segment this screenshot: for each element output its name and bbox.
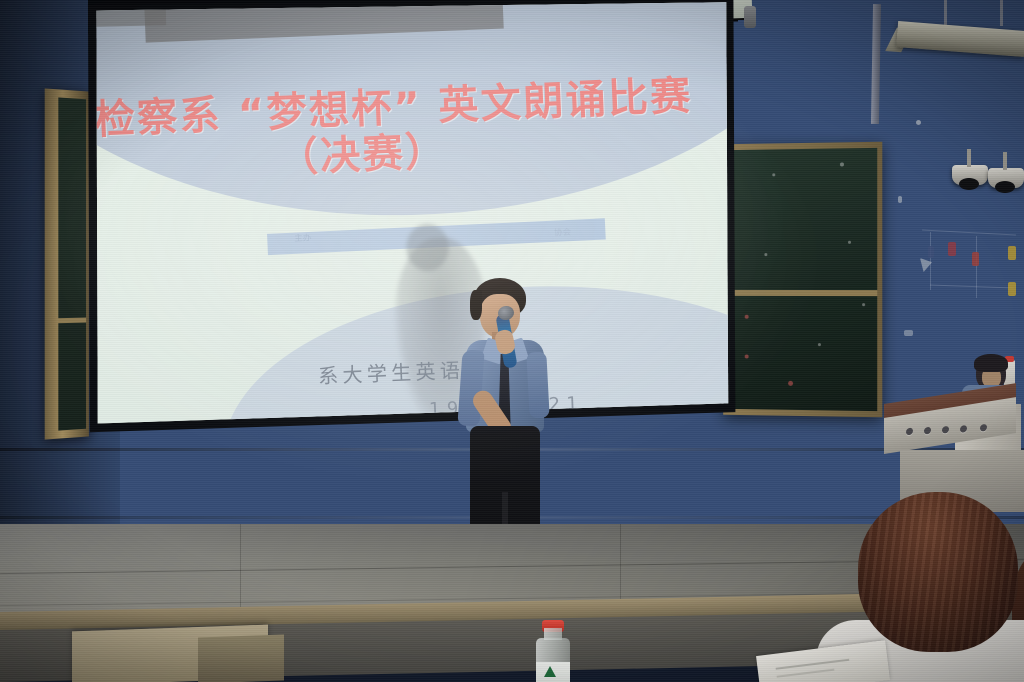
chalkboard-left-edge [45,88,89,439]
chalkboard [723,142,882,418]
projection-screen: 检察系 “梦想杯” 英文朗诵比赛 （决赛） 主办 协会 系大学生英语协会 19.… [86,0,736,434]
speaker-hair-side [470,290,482,320]
security-camera-icon-1 [952,165,988,185]
projected-speaker-shadow-head [406,223,450,270]
podium-knob-4[interactable] [960,425,967,433]
slide-subtitle-left: 主办 [294,233,311,244]
decor-card-1 [928,246,934,258]
podium-knob-3[interactable] [942,426,949,434]
decor-card-5 [1008,282,1016,296]
screen-surface: 检察系 “梦想杯” 英文朗诵比赛 （决赛） 主办 协会 系大学生英语协会 19.… [86,0,736,434]
light-support-rod-2 [1000,0,1003,26]
podium-knob-1[interactable] [906,427,913,435]
audience-hair [858,492,1018,652]
presentation-slide: 检察系 “梦想杯” 英文朗诵比赛 （决赛） 主办 协会 系大学生英语协会 19.… [86,0,736,434]
wall-speck-2 [898,196,902,203]
stage-step-side [198,634,284,682]
podium-knob-5[interactable] [980,424,987,432]
operator-hair [974,354,1008,372]
decor-string-3 [930,232,931,290]
speaker-arm-right [526,352,549,419]
decor-card-3 [972,252,979,266]
bottle-logo-icon [544,666,556,677]
slide-subtitle-right: 协会 [553,226,570,238]
decor-card-4 [1008,246,1016,260]
decor-card-2 [948,242,956,256]
wall-speck-3 [904,330,913,336]
decor-string-4 [976,236,977,298]
security-camera-icon-2 [988,168,1024,188]
podium-knob-2[interactable] [924,427,931,435]
wall-speck-1 [916,120,921,125]
photo-scene: 检察系 “梦想杯” 英文朗诵比赛 （决赛） 主办 协会 系大学生英语协会 19.… [0,0,1024,682]
screen-roller-knob [744,6,756,28]
